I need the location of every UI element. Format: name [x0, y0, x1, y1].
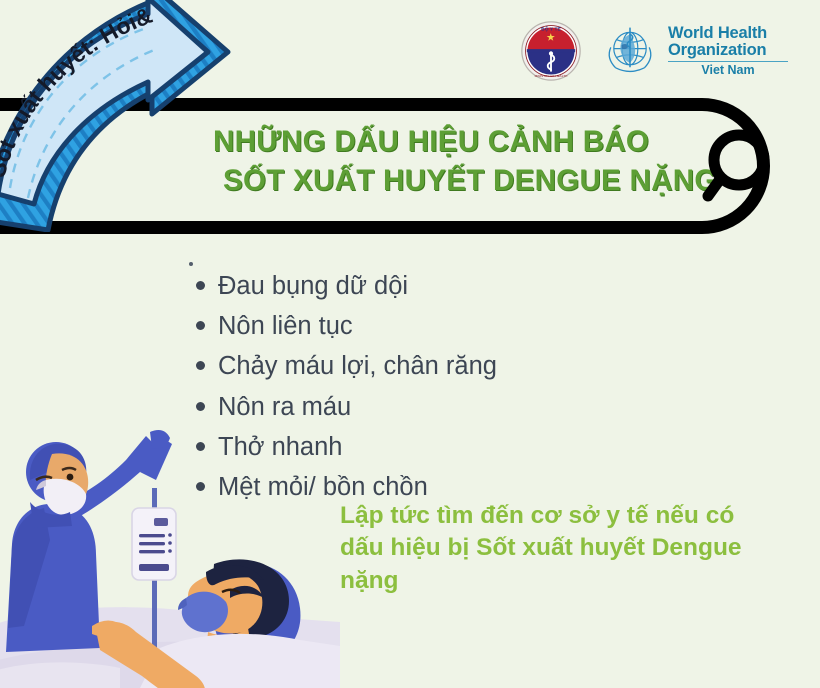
- who-divider: [668, 61, 788, 62]
- cta-line-3: nặng: [340, 565, 790, 597]
- list-item-label: Đau bụng dữ dội: [218, 268, 408, 304]
- stray-dot: [189, 262, 193, 266]
- illustration-doctor-and-patient: [0, 376, 340, 688]
- who-line2: Organization: [668, 42, 788, 59]
- who-country-label: Viet Nam: [668, 64, 788, 77]
- iv-bag: [132, 508, 176, 580]
- who-line1: World Health: [668, 25, 788, 42]
- cta-line-2: dấu hiệu bị Sốt xuất huyết Dengue: [340, 532, 790, 564]
- list-item: Đau bụng dữ dội: [196, 268, 626, 304]
- cta-line-1: Lập tức tìm đến cơ sở y tế nếu có: [340, 500, 790, 532]
- infographic-canvas: BỘ Y TẾ MINISTRY OF HEALTH: [0, 0, 820, 688]
- page-title: NHỮNG DẤU HIỆU CẢNH BÁO SỐT XUẤT HUYẾT D…: [213, 122, 733, 200]
- who-logo: World Health Organization Viet Nam: [600, 21, 788, 81]
- bullet-dot-icon: [196, 321, 205, 330]
- ministry-of-health-logo: BỘ Y TẾ MINISTRY OF HEALTH: [520, 20, 582, 82]
- logo-group: BỘ Y TẾ MINISTRY OF HEALTH: [520, 8, 810, 94]
- list-item-label: Nôn liên tục: [218, 308, 353, 344]
- moh-bottom-text: MINISTRY OF HEALTH: [535, 74, 568, 78]
- call-to-action-text: Lập tức tìm đến cơ sở y tế nếu có dấu hi…: [340, 500, 790, 597]
- title-line-2: SỐT XUẤT HUYẾT DENGUE NẶNG: [213, 161, 733, 200]
- who-emblem-icon: [600, 21, 660, 81]
- bullet-dot-icon: [196, 281, 205, 290]
- list-item: Nôn liên tục: [196, 308, 626, 344]
- magnifying-glass-icon: [697, 126, 773, 212]
- title-line-1: NHỮNG DẤU HIỆU CẢNH BÁO: [213, 122, 733, 161]
- bullet-dot-icon: [196, 361, 205, 370]
- arrow-banner: Sốt xuất huyết: Hỏi&Đáp: [0, 0, 282, 232]
